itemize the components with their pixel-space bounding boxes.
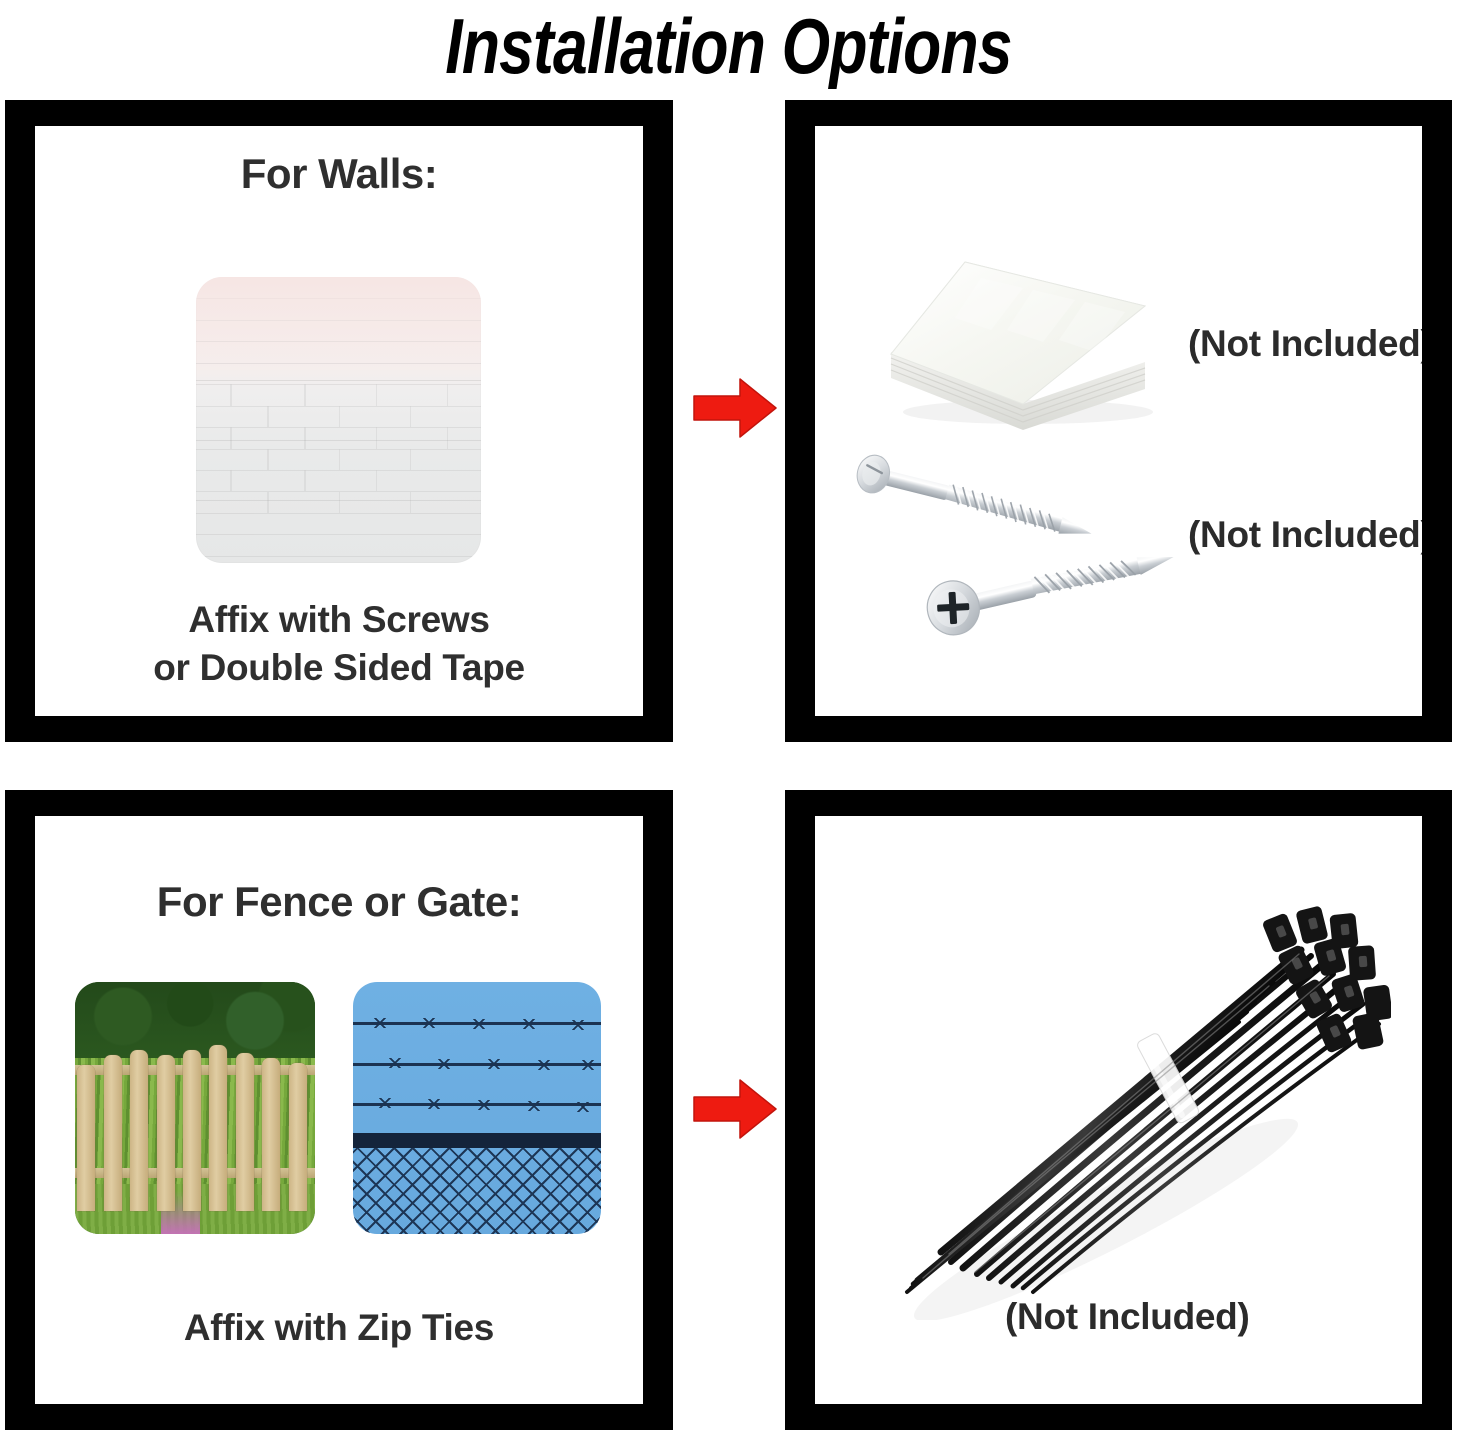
page-title: Installation Options	[146, 0, 1312, 92]
barb	[388, 1058, 402, 1068]
fence-picket	[77, 1065, 95, 1211]
fence-top-rail	[353, 1133, 601, 1148]
brick-wall-streak	[196, 500, 481, 501]
screws-not-included-label: (Not Included)	[1188, 514, 1422, 556]
red-right-arrow-icon	[692, 377, 778, 439]
panel-wall-hardware: (Not Included)	[785, 100, 1452, 742]
wood-screws-photo	[837, 446, 1187, 682]
fence-picket	[289, 1063, 307, 1212]
brick-wall-streak	[196, 440, 481, 441]
panel-for-walls-content: For Walls:	[35, 126, 643, 716]
barb	[477, 1100, 491, 1110]
chain-link-mesh	[353, 1148, 601, 1234]
barb	[437, 1059, 451, 1069]
for-fence-caption: Affix with Zip Ties	[35, 1304, 643, 1352]
double-sided-tape-stack-photo	[873, 244, 1163, 434]
barbed-wire-chain-link-fence-photo	[353, 982, 601, 1234]
fence-picket	[209, 1045, 227, 1211]
barb	[537, 1060, 551, 1070]
fence-picket	[104, 1055, 122, 1211]
red-right-arrow-icon	[692, 1078, 778, 1140]
barb	[522, 1019, 536, 1029]
barb	[422, 1018, 436, 1028]
fence-picket	[183, 1050, 201, 1211]
for-fence-caption-line1: Affix with Zip Ties	[35, 1304, 643, 1352]
fence-picket	[262, 1058, 280, 1212]
zip-ties-not-included-label: (Not Included)	[1005, 1296, 1249, 1338]
for-walls-caption-line1: Affix with Screws	[35, 596, 643, 644]
fence-picket	[157, 1055, 175, 1211]
fence-picket	[236, 1053, 254, 1212]
barb	[472, 1019, 486, 1029]
barb	[427, 1099, 441, 1109]
brick-wall-streak	[196, 380, 481, 381]
panel-fence-hardware-content: (Not Included)	[815, 816, 1422, 1404]
for-walls-caption-line2: or Double Sided Tape	[35, 644, 643, 692]
for-fence-heading: For Fence or Gate:	[35, 878, 643, 926]
white-brick-wall-photo	[196, 277, 481, 563]
black-zip-ties-bundle-photo	[831, 890, 1391, 1320]
for-walls-caption: Affix with Screws or Double Sided Tape	[35, 596, 643, 692]
barb	[527, 1101, 541, 1111]
barb	[378, 1098, 392, 1108]
barb	[576, 1102, 590, 1112]
barb	[571, 1020, 585, 1030]
wooden-picket-fence-photo	[75, 982, 315, 1234]
panel-fence-hardware: (Not Included)	[785, 790, 1452, 1430]
barb	[373, 1018, 387, 1028]
panel-for-fence-or-gate: For Fence or Gate:	[5, 790, 673, 1430]
barb	[581, 1060, 595, 1070]
tape-not-included-label: (Not Included)	[1188, 323, 1422, 365]
fence-picket	[130, 1050, 148, 1211]
brick-wall-highlight	[196, 277, 481, 374]
for-walls-heading: For Walls:	[35, 150, 643, 198]
panel-wall-hardware-content: (Not Included)	[815, 126, 1422, 716]
panel-for-walls: For Walls:	[5, 100, 673, 742]
barb	[487, 1059, 501, 1069]
panel-for-fence-or-gate-content: For Fence or Gate:	[35, 816, 643, 1404]
